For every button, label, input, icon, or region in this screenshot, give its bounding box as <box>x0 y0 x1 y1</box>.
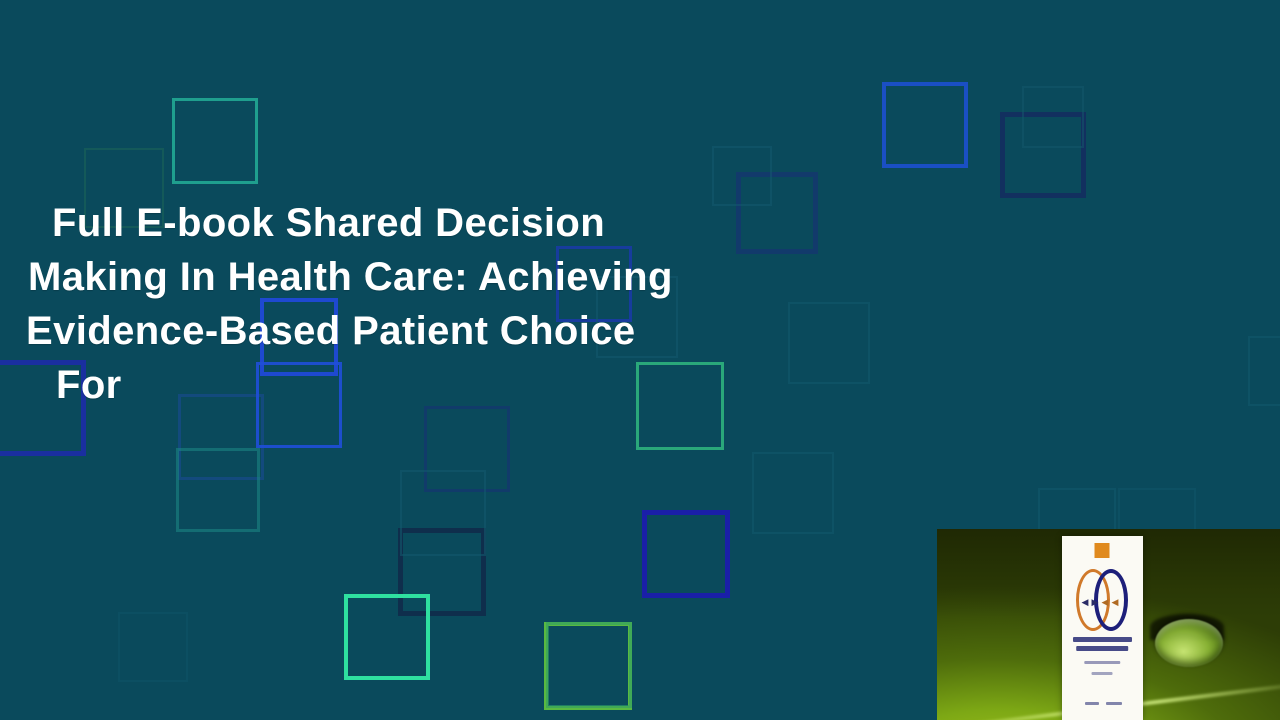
square-teal-top-left <box>172 98 258 184</box>
cover-edition-text <box>1092 672 1113 675</box>
square-navy-top-right <box>1000 112 1086 198</box>
square-faint-center-tall <box>400 470 486 556</box>
double-lens-logo-icon: ◀ ▶ ◀ ◀ <box>1074 569 1130 631</box>
chevron-left-icon-c: ◀ <box>1101 598 1108 607</box>
square-yellowgreen-bottom <box>544 622 632 710</box>
title-line-2: Making In Health Care: Achieving <box>0 250 860 304</box>
square-navy-center-lower <box>424 406 510 492</box>
page-title: Full E-book Shared Decision Making In He… <box>0 196 860 412</box>
cover-title-text-line-1 <box>1073 637 1131 642</box>
cover-author-text-right <box>1106 702 1122 705</box>
square-navy-bottom-right <box>642 510 730 598</box>
book-cover-thumbnail: ◀ ▶ ◀ ◀ <box>937 529 1280 720</box>
square-green-bottom-small <box>546 622 632 708</box>
title-line-3: Evidence-Based Patient Choice <box>0 304 860 358</box>
square-faint-right-edge <box>1248 336 1280 406</box>
water-drop <box>1155 619 1223 667</box>
square-blue-top-right <box>882 82 968 168</box>
chevron-right-icon-b: ▶ <box>1091 598 1098 607</box>
square-faint-right-lower <box>752 452 834 534</box>
title-line-4: For <box>0 358 860 412</box>
square-faint-top-right-a <box>1022 86 1084 148</box>
cover-title-text-line-2 <box>1077 646 1129 651</box>
chevron-left-icon-a: ◀ <box>1081 598 1088 607</box>
cover-author-text-left <box>1085 702 1100 705</box>
square-teal-left-stack <box>176 448 260 532</box>
square-faint-bottom-left <box>118 612 188 682</box>
book-cover-band: ◀ ▶ ◀ ◀ <box>1062 536 1143 720</box>
square-spring-green-bottom <box>344 594 430 680</box>
cover-top-mark <box>1095 543 1110 558</box>
title-line-1: Full E-book Shared Decision <box>0 196 860 250</box>
square-navy-center-bottom <box>398 528 486 616</box>
video-thumbnail-canvas: Full E-book Shared Decision Making In He… <box>0 0 1280 720</box>
chevron-left-icon-d: ◀ <box>1111 598 1118 607</box>
cover-subtitle-text <box>1085 661 1120 664</box>
